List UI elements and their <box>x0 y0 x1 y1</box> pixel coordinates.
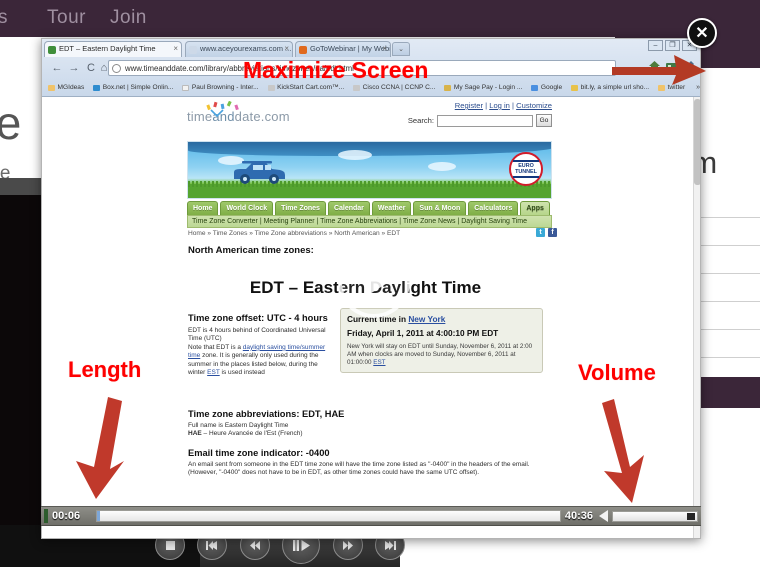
bitly-icon <box>571 85 578 91</box>
nav-tab-weather[interactable]: Weather <box>372 201 412 215</box>
site-nav-tabs[interactable]: Home World Clock Time Zones Calendar Wea… <box>187 201 552 215</box>
badge-bar-top <box>513 160 539 162</box>
address-bar[interactable]: www.timeanddate.com/library/abbreviation… <box>108 60 616 76</box>
volume-slider-thumb[interactable] <box>687 513 695 520</box>
new-york-link[interactable]: New York <box>408 314 445 324</box>
est-link[interactable]: EST <box>207 369 220 376</box>
page-icon <box>353 85 360 91</box>
abbrev-body-2: – Heure Avancée de l'Est (French) <box>202 430 303 437</box>
bookmark-label: Paul Browning - Inter... <box>192 84 259 91</box>
browser-tab-0[interactable]: EDT – Eastern Daylight Time × <box>44 41 182 57</box>
page-icon <box>182 85 189 91</box>
bookmark-item-4[interactable]: Cisco CCNA | CCNP C... <box>353 84 435 91</box>
login-link[interactable]: Log in <box>489 101 510 110</box>
omnibox-icon-group[interactable] <box>649 61 694 72</box>
tab-favicon-icon <box>299 46 307 54</box>
bookmarks-overflow-icon[interactable]: » <box>696 84 700 91</box>
bookmark-item-7[interactable]: bit.ly, a simple url sho... <box>571 84 649 91</box>
bookmark-label: MGIdeas <box>58 84 85 91</box>
minimize-button[interactable]: – <box>648 40 663 51</box>
bookmark-label: Cisco CCNA | CCNP C... <box>363 84 436 91</box>
scrubber-start-marker <box>44 509 48 523</box>
offset-heading: Time zone offset: UTC - 4 hours <box>188 312 330 324</box>
play-triangle-icon <box>365 267 389 297</box>
volume-slider[interactable] <box>612 511 698 522</box>
bookmark-item-1[interactable]: Box.net | Simple Onlin... <box>93 84 173 91</box>
close-button-label: ✕ <box>695 23 708 43</box>
google-icon <box>531 85 538 91</box>
extension-icon[interactable] <box>666 61 677 72</box>
email-body: An email sent from someone in the EDT ti… <box>188 461 543 478</box>
social-icon-group[interactable]: t f <box>536 228 557 237</box>
bookmark-item-3[interactable]: KickStart Cart.com™... <box>268 84 345 91</box>
new-tab-button[interactable]: ⌄ <box>392 42 410 56</box>
infobox-current-time: Friday, April 1, 2011 at 4:00:10 PM EDT <box>347 328 536 338</box>
nav-tab-world-clock[interactable]: World Clock <box>220 201 273 215</box>
tab-close-icon[interactable]: × <box>382 42 387 56</box>
tab-favicon-icon <box>48 46 56 54</box>
nav-tab-sun-moon[interactable]: Sun & Moon <box>413 201 466 215</box>
bookmark-label: twitter <box>668 84 686 91</box>
site-info-icon[interactable] <box>112 64 121 73</box>
folder-icon <box>48 85 55 91</box>
nav-tab-time-zones[interactable]: Time Zones <box>275 201 326 215</box>
box-icon <box>93 85 100 91</box>
abbrev-body: Full name is Eastern Daylight Time HAE –… <box>188 422 543 439</box>
cloud-icon <box>428 162 456 171</box>
nav-tab-home[interactable]: Home <box>187 201 218 215</box>
browser-chrome-header: EDT – Eastern Daylight Time × www.aceyou… <box>42 39 700 97</box>
page-viewport: timeanddate.com Register | Log in | Cust… <box>42 97 701 539</box>
tab-close-icon[interactable]: × <box>284 42 289 56</box>
facebook-icon[interactable]: f <box>548 228 557 237</box>
nav-tab-apps[interactable]: Apps <box>520 201 550 215</box>
article-left-column: Time zone offset: UTC - 4 hours EDT is 4… <box>188 312 330 377</box>
wrench-icon[interactable] <box>683 61 694 72</box>
bookmark-item-6[interactable]: Google <box>531 84 562 91</box>
browser-tab-1[interactable]: www.aceyourexams.com ... × <box>185 41 293 57</box>
bg-nav-item-join[interactable]: Join <box>110 7 147 29</box>
email-body-1: An email sent from someone in the EDT ti… <box>188 461 530 468</box>
offset-body: EDT is 4 hours behind of Coordinated Uni… <box>188 327 330 377</box>
reload-icon[interactable]: C <box>84 61 98 75</box>
offset-body-4: is used instead <box>220 369 265 376</box>
banner-grass <box>188 184 551 198</box>
email-body-2: (However, "-0400" does not have to be in… <box>188 469 479 476</box>
customize-link[interactable]: Customize <box>516 101 552 110</box>
browser-tab-2-title: GoToWebinar | My Webinars <box>310 44 391 53</box>
tab-close-icon[interactable]: × <box>173 42 178 56</box>
abbrev-hae: HAE <box>188 430 202 437</box>
bookmark-item-0[interactable]: MGIdeas <box>48 84 84 91</box>
abbrev-body-1: Full name is Eastern Daylight Time <box>188 422 288 429</box>
nav-tab-calendar[interactable]: Calendar <box>328 201 370 215</box>
background-top-nav: ks Tour Join <box>0 0 760 37</box>
tab-favicon-icon <box>189 46 197 54</box>
cloud-icon <box>338 150 372 160</box>
home-icon[interactable] <box>649 61 660 72</box>
site-logo[interactable]: timeanddate.com <box>187 109 290 124</box>
elapsed-time-label: 00:06 <box>52 510 92 522</box>
browser-tab-1-title: www.aceyourexams.com ... <box>200 44 291 53</box>
site-search[interactable]: Search: Go <box>408 114 552 127</box>
search-go-button[interactable]: Go <box>536 114 552 127</box>
abbrev-heading: Time zone abbreviations: EDT, HAE <box>188 409 543 419</box>
article-tail: Time zone abbreviations: EDT, HAE Full n… <box>188 400 543 478</box>
bookmark-label: bit.ly, a simple url sho... <box>581 84 649 91</box>
register-link[interactable]: Register <box>455 101 483 110</box>
offset-body-2: Note that EDT is a <box>188 344 243 351</box>
folder-icon <box>658 85 665 91</box>
eurotunnel-line2: TUNNEL <box>515 169 537 175</box>
bg-nav-item-0[interactable]: ks <box>0 7 8 29</box>
page-scrollbar[interactable] <box>693 97 701 539</box>
browser-tabstrip: EDT – Eastern Daylight Time × www.aceyou… <box>42 39 700 57</box>
bookmarks-bar: MGIdeas Box.net | Simple Onlin... Paul B… <box>42 79 700 96</box>
background-hero-title: ple <box>0 96 21 150</box>
infobox-est-link[interactable]: EST <box>373 359 385 366</box>
video-scrubber-bar[interactable]: 00:06 40:36 <box>41 506 701 526</box>
play-overlay-button[interactable] <box>338 246 410 318</box>
bookmark-label: My Sage Pay - Login ... <box>454 84 523 91</box>
nav-tab-calculators[interactable]: Calculators <box>468 201 518 215</box>
page-icon <box>268 85 275 91</box>
badge-bar-bottom <box>513 176 539 178</box>
close-icon[interactable]: ✕ <box>687 18 717 48</box>
seek-progress-fill <box>97 511 100 521</box>
back-icon[interactable]: ← <box>50 61 64 75</box>
maximize-button[interactable]: ❐ <box>665 40 680 51</box>
bookmark-item-8[interactable]: twitter <box>658 84 685 91</box>
page-scrollbar-thumb[interactable] <box>694 99 701 185</box>
twitter-icon[interactable]: t <box>536 228 545 237</box>
seek-slider[interactable] <box>96 510 561 522</box>
duration-label: 40:36 <box>565 510 593 522</box>
bookmark-label: Box.net | Simple Onlin... <box>103 84 174 91</box>
site-header: timeanddate.com Register | Log in | Cust… <box>187 101 552 139</box>
forward-icon[interactable]: → <box>67 61 81 75</box>
offset-body-1: EDT is 4 hours behind of Coordinated Uni… <box>188 327 326 342</box>
site-subnav[interactable]: Time Zone Converter | Meeting Planner | … <box>187 215 552 228</box>
address-bar-url: www.timeanddate.com/library/abbreviation… <box>125 64 354 73</box>
search-label: Search: <box>408 116 434 125</box>
search-input[interactable] <box>437 115 533 127</box>
email-heading: Email time zone indicator: -0400 <box>188 448 543 458</box>
eurotunnel-badge-icon: EURO TUNNEL <box>509 152 543 186</box>
breadcrumb[interactable]: Home » Time Zones » Time Zone abbreviati… <box>188 230 400 237</box>
speaker-icon[interactable] <box>599 510 608 522</box>
confetti-icon <box>205 101 245 117</box>
browser-tab-2[interactable]: GoToWebinar | My Webinars × <box>295 41 391 57</box>
page-content: timeanddate.com Register | Log in | Cust… <box>42 97 693 539</box>
car-icon <box>228 161 290 185</box>
bookmark-item-5[interactable]: My Sage Pay - Login ... <box>444 84 522 91</box>
bookmark-label: Google <box>541 84 562 91</box>
site-banner: EURO TUNNEL <box>187 141 552 199</box>
infobox-note: New York will stay on EDT until Sunday, … <box>347 343 536 367</box>
sage-icon <box>444 85 451 91</box>
account-links[interactable]: Register | Log in | Customize <box>455 101 552 110</box>
browser-omnibox-row: ← → C ⌂ www.timeanddate.com/library/abbr… <box>42 58 700 78</box>
bookmark-item-2[interactable]: Paul Browning - Inter... <box>182 84 258 91</box>
bg-nav-item-tour[interactable]: Tour <box>47 7 86 29</box>
browser-tab-0-title: EDT – Eastern Daylight Time <box>59 44 156 53</box>
bookmark-label: KickStart Cart.com™... <box>277 84 344 91</box>
